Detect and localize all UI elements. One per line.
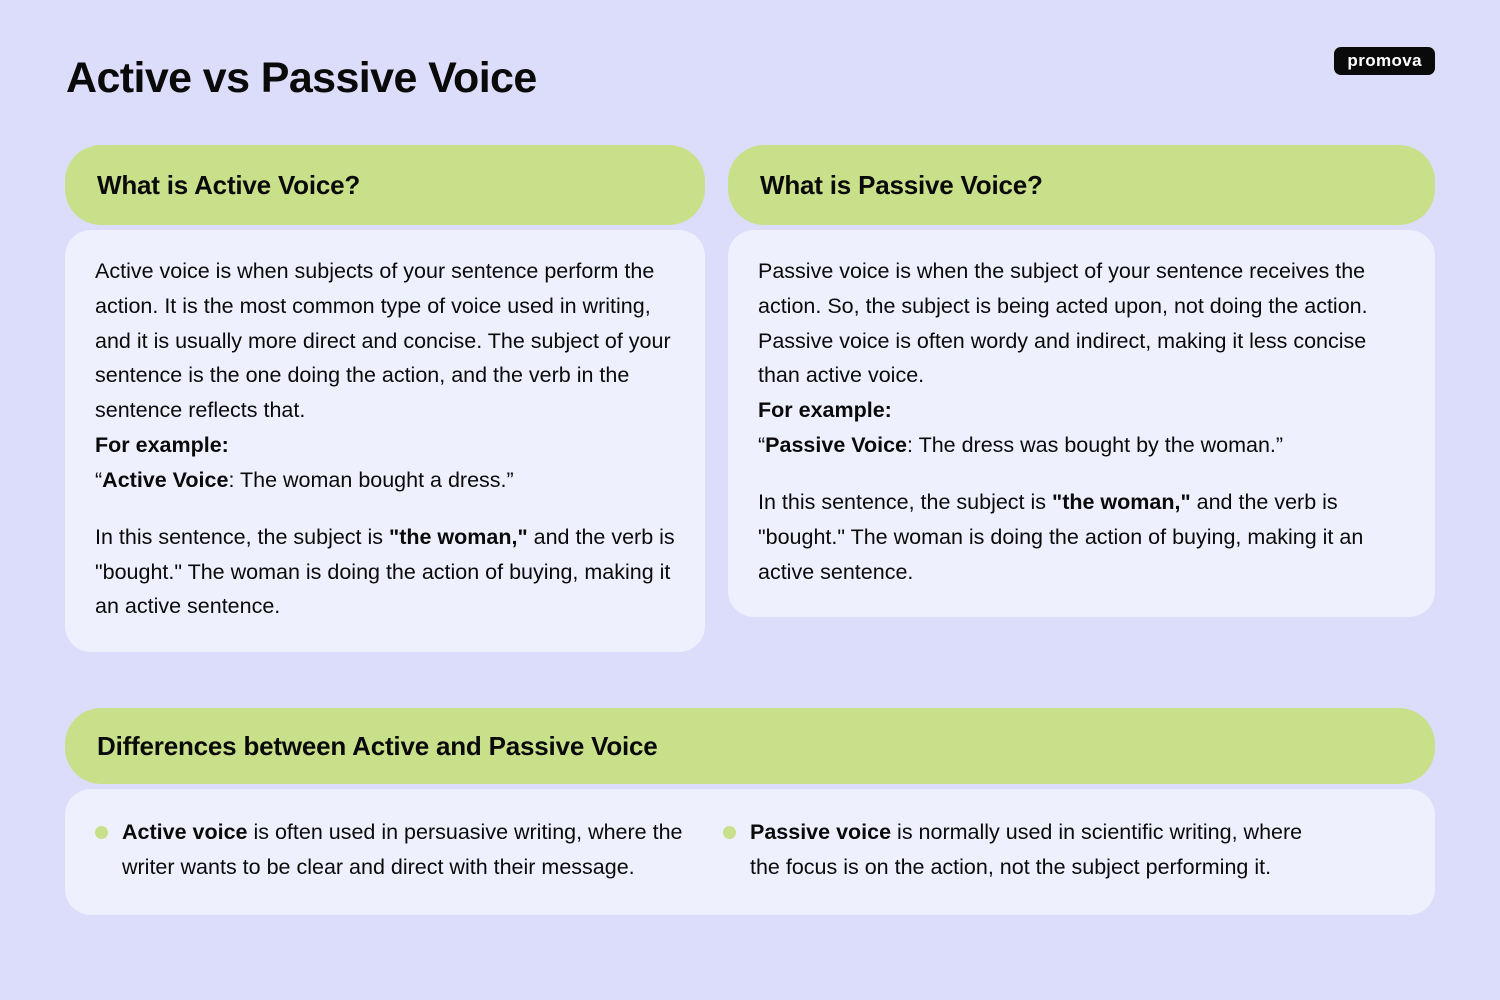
body-text: Passive voice is when the subject of you… <box>758 259 1368 387</box>
passive-voice-column: What is Passive Voice? Passive voice is … <box>728 145 1435 617</box>
emphasis-text: Active voice <box>122 820 247 844</box>
page-title: Active vs Passive Voice <box>66 55 537 102</box>
paragraph-definition: Passive voice is when the subject of you… <box>758 254 1405 393</box>
bullet-dot-icon <box>723 826 736 839</box>
list-item: Active voice is often used in persuasive… <box>95 815 695 885</box>
definition-columns: What is Active Voice? Active voice is wh… <box>65 145 1435 652</box>
emphasis-text: "the woman," <box>389 525 528 549</box>
paragraph-example: “Passive Voice: The dress was bought by … <box>758 428 1405 463</box>
active-voice-column: What is Active Voice? Active voice is wh… <box>65 145 705 652</box>
bullet-text-passive-bullet: Passive voice is normally used in scient… <box>750 815 1323 885</box>
emphasis-text: For example: <box>758 398 892 422</box>
active-voice-heading: What is Active Voice? <box>97 170 360 201</box>
promova-logo: promova <box>1334 47 1435 75</box>
emphasis-text: For example: <box>95 433 229 457</box>
bullet-text-active-bullet: Active voice is often used in persuasive… <box>122 815 695 885</box>
paragraph-example: “Active Voice: The woman bought a dress.… <box>95 463 675 498</box>
body-text: : The woman bought a dress.” <box>228 468 513 492</box>
paragraph-for-example-label: For example: <box>95 428 675 463</box>
paragraph-definition: Active voice is when subjects of your se… <box>95 254 675 428</box>
body-text: In this sentence, the subject is <box>758 490 1052 514</box>
paragraph-explanation: In this sentence, the subject is "the wo… <box>95 520 675 624</box>
active-voice-card: Active voice is when subjects of your se… <box>65 230 705 652</box>
list-item: Passive voice is normally used in scient… <box>723 815 1323 885</box>
emphasis-text: Passive voice <box>750 820 891 844</box>
emphasis-text: "the woman," <box>1052 490 1191 514</box>
active-voice-header-pill: What is Active Voice? <box>65 145 705 225</box>
differences-heading: Differences between Active and Passive V… <box>97 731 658 762</box>
differences-header-pill: Differences between Active and Passive V… <box>65 708 1435 784</box>
paragraph-explanation: In this sentence, the subject is "the wo… <box>758 485 1405 589</box>
paragraph-for-example-label: For example: <box>758 393 1405 428</box>
body-text: Active voice is when subjects of your se… <box>95 259 671 422</box>
logo-text: promova <box>1347 51 1422 70</box>
emphasis-text: Active Voice <box>102 468 228 492</box>
bullet-dot-icon <box>95 826 108 839</box>
body-text: In this sentence, the subject is <box>95 525 389 549</box>
emphasis-text: Passive Voice <box>765 433 907 457</box>
passive-voice-heading: What is Passive Voice? <box>760 170 1043 201</box>
differences-card: Active voice is often used in persuasive… <box>65 789 1435 915</box>
body-text: : The dress was bought by the woman.” <box>907 433 1283 457</box>
passive-voice-header-pill: What is Passive Voice? <box>728 145 1435 225</box>
infographic-page: promova Active vs Passive Voice What is … <box>0 0 1500 1000</box>
passive-voice-card: Passive voice is when the subject of you… <box>728 230 1435 617</box>
differences-section: Differences between Active and Passive V… <box>65 708 1435 915</box>
